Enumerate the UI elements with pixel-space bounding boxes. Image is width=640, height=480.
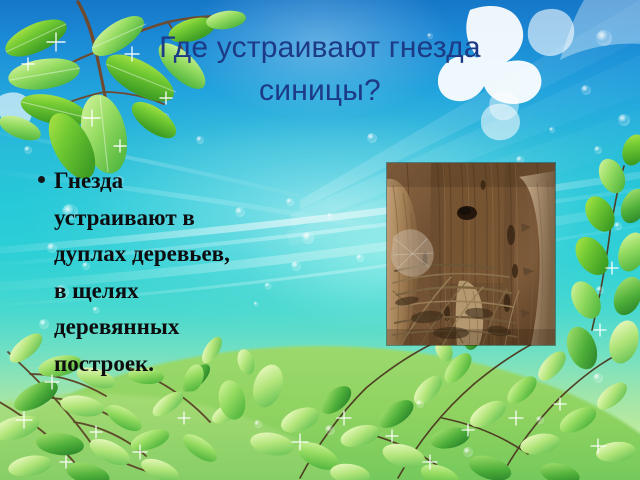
nest-in-tree-hollow-photo [387, 163, 555, 345]
presentation-slide: Где устраивают гнезда синицы? Гнезда уст… [0, 0, 640, 480]
slide-title: Где устраивают гнезда синицы? [40, 26, 600, 112]
body-bullet-list: Гнезда устраивают в дуплах деревьев, в щ… [36, 163, 246, 382]
bullet-dot-icon [38, 176, 45, 183]
bullet-item-text: Гнезда устраивают в дуплах деревьев, в щ… [54, 163, 246, 382]
photo-content [387, 163, 555, 345]
